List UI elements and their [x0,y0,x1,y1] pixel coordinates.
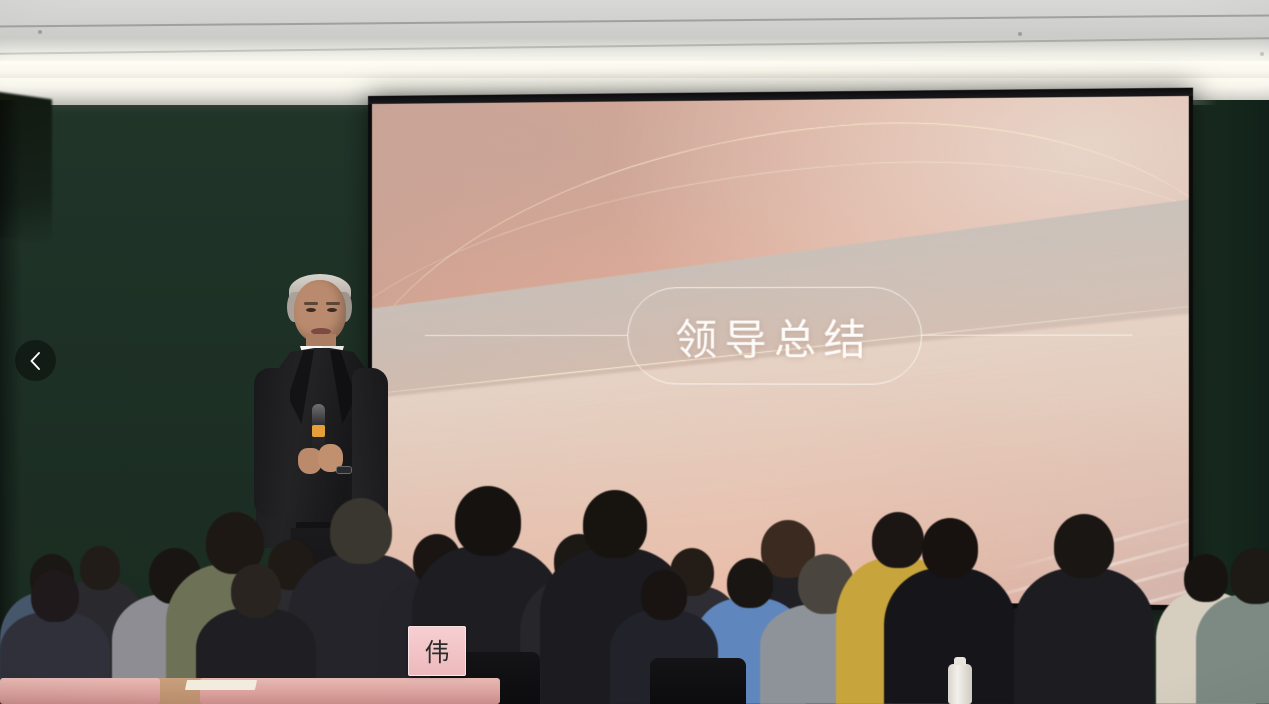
attendee-head [31,570,79,622]
ceiling-fixture-dot [38,30,42,34]
microphone-band [312,425,325,437]
ceiling-seam [0,37,1269,54]
table-edge [0,678,160,704]
slide-title-pill: 领导总结 [627,286,922,384]
ceiling-fixture-dot [1018,32,1022,36]
attendee-head [231,564,281,618]
attendee-head [641,570,687,620]
slide-title-group: 领导总结 [372,286,1189,385]
ceiling-fixture-dot [1260,52,1264,56]
attendee-head [1230,548,1269,604]
speaker-eye [306,308,316,312]
name-placard: 伟 [408,626,466,676]
attendee-head [1054,514,1114,578]
attendee-head [922,518,978,578]
attendee-21 [0,462,110,704]
chair-back [650,658,746,704]
attendee-20 [196,482,316,704]
title-rule-left [425,335,627,336]
paper-sheet [185,680,257,690]
speaker-eyebrow [304,302,318,305]
attendee-torso [1196,594,1269,704]
ceiling-seam [0,14,1269,27]
photo-viewer-stage: 领导总结 [0,0,1269,704]
attendee-17 [1014,496,1154,704]
title-rule-right [922,335,1132,336]
water-bottle [948,664,972,704]
speaker-eye [327,308,337,312]
attendee-19 [1196,494,1269,704]
audience-group [0,454,1269,704]
speaker-eyebrow [326,302,340,305]
name-placard-text: 伟 [424,633,449,669]
slide-title-text: 领导总结 [675,315,873,364]
previous-photo-button[interactable] [15,340,56,381]
attendee-torso [1014,568,1154,704]
chevron-left-icon [28,351,43,371]
table-edge [340,678,500,704]
attendee-head [455,486,521,556]
